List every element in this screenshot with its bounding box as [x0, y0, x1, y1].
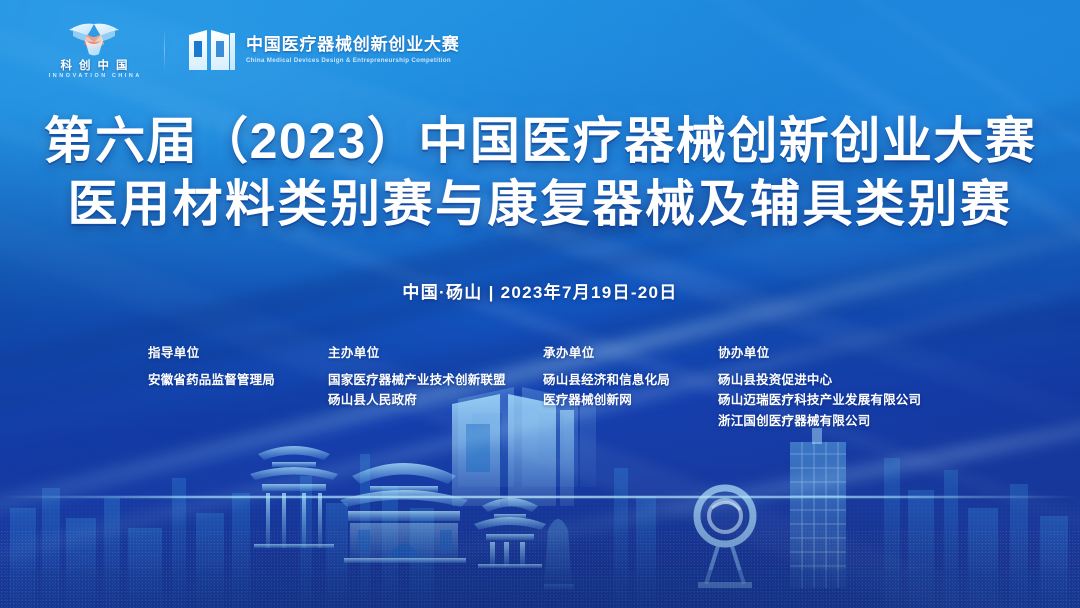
innovation-china-cn: 科创中国 [54, 60, 135, 73]
organizer-unit: 砀山县人民政府 [328, 390, 543, 410]
organizer-role: 主办单位 [328, 346, 543, 361]
event-poster: 科创中国 INNOVATION CHINA [0, 0, 1080, 608]
organizer-unit: 砀山迈瑞医疗科技产业发展有限公司 [718, 390, 968, 410]
organizer-role: 协办单位 [718, 346, 968, 361]
poster-content: 科创中国 INNOVATION CHINA [0, 0, 1080, 608]
open-door-book-mark [187, 27, 235, 73]
organizer-column-undertaker: 承办单位 砀山县经济和信息化局 医疗器械创新网 [543, 346, 718, 431]
organizer-list: 指导单位 安徽省药品监督管理局 主办单位 国家医疗器械产业技术创新联盟 砀山县人… [148, 346, 968, 431]
organizer-unit: 国家医疗器械产业技术创新联盟 [328, 370, 543, 390]
poster-title: 第六届（2023）中国医疗器械创新创业大赛 医用材料类别赛与康复器械及辅具类别赛 [0, 110, 1080, 236]
organizer-unit: 医疗器械创新网 [543, 390, 718, 410]
logo-divider [164, 29, 165, 71]
phoenix-bird-mark [63, 20, 125, 58]
competition-logo: 中国医疗器械创新创业大赛 China Medical Devices Desig… [187, 27, 460, 73]
event-dateline: 中国·砀山 | 2023年7月19日-20日 [0, 278, 1080, 303]
organizer-column-host: 主办单位 国家医疗器械产业技术创新联盟 砀山县人民政府 [328, 346, 543, 431]
competition-name-cn: 中国医疗器械创新创业大赛 [246, 35, 460, 55]
innovation-china-logo: 科创中国 INNOVATION CHINA [46, 20, 142, 80]
organizer-column-coorganizer: 协办单位 砀山县投资促进中心 砀山迈瑞医疗科技产业发展有限公司 浙江国创医疗器械… [718, 346, 968, 431]
organizer-unit: 砀山县经济和信息化局 [543, 370, 718, 390]
title-line-1: 第六届（2023）中国医疗器械创新创业大赛 [0, 110, 1080, 173]
logo-bar: 科创中国 INNOVATION CHINA [46, 20, 460, 80]
organizer-unit: 安徽省药品监督管理局 [148, 370, 328, 390]
organizer-role: 指导单位 [148, 346, 328, 361]
title-line-2: 医用材料类别赛与康复器械及辅具类别赛 [0, 173, 1080, 236]
competition-name-en: China Medical Devices Design & Entrepren… [246, 57, 457, 64]
innovation-china-en: INNOVATION CHINA [46, 73, 142, 80]
organizer-unit: 砀山县投资促进中心 [718, 370, 968, 390]
organizer-role: 承办单位 [543, 346, 718, 361]
organizer-column-guidance: 指导单位 安徽省药品监督管理局 [148, 346, 328, 431]
organizer-unit: 浙江国创医疗器械有限公司 [718, 411, 968, 431]
